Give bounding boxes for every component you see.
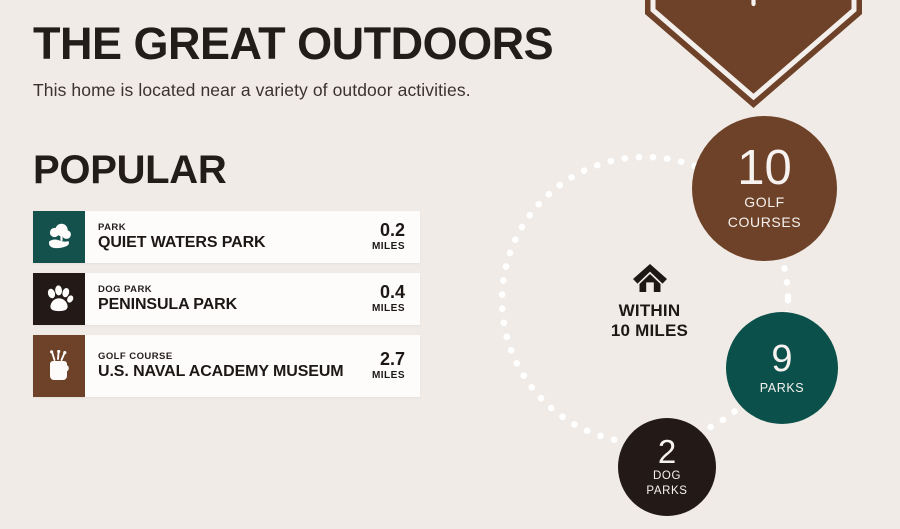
list-item-category: PARK [98,222,368,234]
distance-unit: MILES [372,302,405,315]
golf-bag-icon [45,350,73,382]
list-item-icon-tile [33,335,85,397]
house-icon [632,262,668,294]
page-subtitle: This home is located near a variety of o… [33,80,471,101]
popular-list: PARK QUIET WATERS PARK 0.2 MILES DOG PAR… [33,211,420,407]
stat-circle-dog-parks[interactable]: 2 DOG PARKS [618,418,716,516]
list-item-icon-tile [33,211,85,263]
infographic-canvas: THE GREAT OUTDOORS This home is located … [0,0,900,529]
stat-circle-parks[interactable]: 9 PARKS [726,312,838,424]
stat-label-line2: PARKS [646,485,687,498]
list-item-category: DOG PARK [98,284,368,296]
distance-unit: MILES [372,369,405,382]
list-item-text: PARK QUIET WATERS PARK [85,211,372,263]
popular-heading: POPULAR [33,150,226,190]
tree-badge [645,0,862,108]
radius-line1: WITHIN [611,301,688,321]
stat-count: 10 [737,145,792,192]
radius-center-label: WITHIN 10 MILES [578,262,721,341]
stat-label-line1: DOG [653,470,681,483]
tree-badge-shape [645,0,862,108]
distance-unit: MILES [372,240,405,253]
page-title: THE GREAT OUTDOORS [33,20,553,67]
list-item-distance: 0.2 MILES [372,211,420,263]
list-item-text: GOLF COURSE U.S. NAVAL ACADEMY MUSEUM [85,335,372,397]
list-item[interactable]: DOG PARK PENINSULA PARK 0.4 MILES [33,273,420,325]
park-trees-icon [44,223,74,251]
radius-line2: 10 MILES [611,321,688,341]
paw-print-icon [44,284,74,314]
list-item-text: DOG PARK PENINSULA PARK [85,273,372,325]
list-item[interactable]: GOLF COURSE U.S. NAVAL ACADEMY MUSEUM 2.… [33,335,420,397]
stat-count: 9 [771,341,792,377]
stat-label-line1: GOLF [744,195,785,211]
stat-label-line2: COURSES [728,215,801,231]
distance-value: 0.2 [380,221,405,240]
radius-center-text: WITHIN 10 MILES [611,301,688,341]
list-item-name: PENINSULA PARK [98,296,368,313]
list-item-distance: 2.7 MILES [372,335,420,397]
list-item[interactable]: PARK QUIET WATERS PARK 0.2 MILES [33,211,420,263]
list-item-icon-tile [33,273,85,325]
distance-value: 0.4 [380,283,405,302]
list-item-name: QUIET WATERS PARK [98,234,368,251]
list-item-name: U.S. NAVAL ACADEMY MUSEUM [98,363,368,380]
distance-value: 2.7 [380,350,405,369]
stat-label-line1: PARKS [760,381,804,395]
list-item-category: GOLF COURSE [98,351,368,363]
stat-count: 2 [658,436,676,467]
stat-circle-golf-courses[interactable]: 10 GOLF COURSES [692,116,837,261]
list-item-distance: 0.4 MILES [372,273,420,325]
